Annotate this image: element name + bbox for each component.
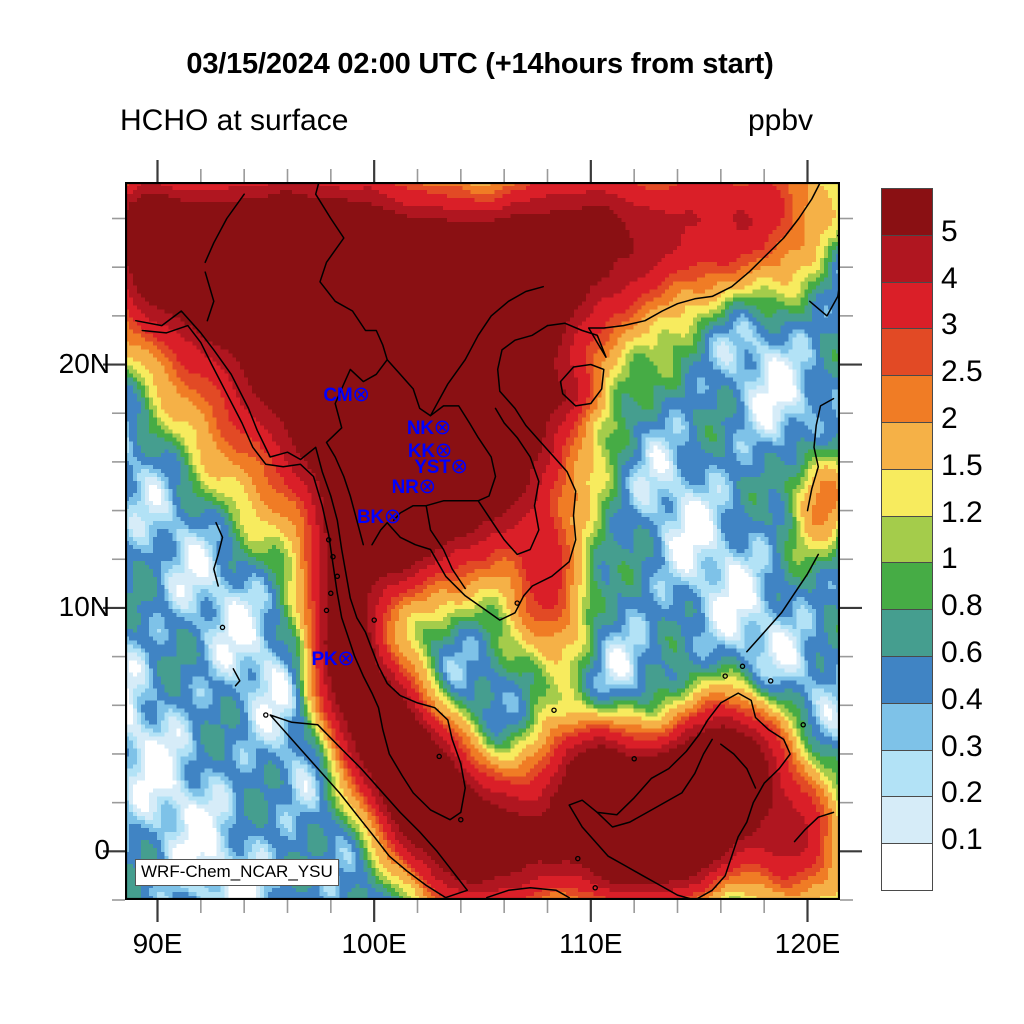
- colorbar-tick-label-12: 0.2: [941, 776, 983, 810]
- colorbar-tick-label-1: 4: [941, 262, 958, 296]
- colorbar[interactable]: [881, 188, 933, 890]
- x-tick-label-100E: 100E: [294, 928, 454, 960]
- colorbar-band-12: [881, 750, 933, 798]
- colorbar-band-14: [881, 843, 933, 891]
- colorbar-tick-label-8: 0.8: [941, 589, 983, 623]
- colorbar-band-11: [881, 703, 933, 751]
- station-marker-nk: NK⊗: [407, 417, 451, 438]
- station-point-icon: ⊗: [384, 505, 401, 528]
- model-watermark: WRF-Chem_NCAR_YSU: [135, 859, 339, 886]
- colorbar-band-2: [881, 282, 933, 330]
- station-point-icon: ⊗: [450, 455, 467, 478]
- colorbar-tick-label-4: 2: [941, 402, 958, 436]
- colorbar-tick-label-13: 0.1: [941, 823, 983, 857]
- station-label: BK: [357, 507, 384, 528]
- station-point-icon: ⊗: [337, 647, 354, 670]
- colorbar-band-4: [881, 375, 933, 423]
- station-marker-nr: NR⊗: [392, 476, 436, 497]
- map-plot-area[interactable]: WRF-Chem_NCAR_YSU: [125, 182, 840, 900]
- station-marker-pk: PK⊗: [312, 648, 355, 669]
- colorbar-tick-label-11: 0.3: [941, 730, 983, 764]
- colorbar-tick-label-6: 1.2: [941, 496, 983, 530]
- colorbar-tick-label-3: 2.5: [941, 355, 983, 389]
- colorbar-band-6: [881, 469, 933, 517]
- colorbar-tick-label-9: 0.6: [941, 636, 983, 670]
- colorbar-tick-label-7: 1: [941, 542, 958, 576]
- station-point-icon: ⊗: [419, 475, 436, 498]
- colorbar-band-10: [881, 656, 933, 704]
- units-label: ppbv: [748, 104, 813, 138]
- y-tick-label-10N: 10N: [0, 591, 110, 623]
- contour-map: [125, 182, 840, 900]
- station-marker-yst: YST⊗: [414, 456, 467, 477]
- y-tick-label-20N: 20N: [0, 348, 110, 380]
- colorbar-band-5: [881, 422, 933, 470]
- station-label: NK: [407, 418, 434, 439]
- colorbar-tick-label-2: 3: [941, 308, 958, 342]
- y-tick-label-0: 0: [0, 834, 110, 866]
- station-point-icon: ⊗: [352, 383, 369, 406]
- variable-label: HCHO at surface: [120, 104, 348, 138]
- colorbar-band-3: [881, 328, 933, 376]
- page-title: 03/15/2024 02:00 UTC (+14hours from star…: [0, 48, 960, 81]
- x-tick-label-90E: 90E: [78, 928, 238, 960]
- x-tick-label-120E: 120E: [728, 928, 888, 960]
- station-marker-bk: BK⊗: [357, 506, 401, 527]
- station-label: CM: [323, 385, 352, 406]
- colorbar-tick-label-0: 5: [941, 215, 958, 249]
- station-label: NR: [392, 477, 419, 498]
- colorbar-band-7: [881, 516, 933, 564]
- station-label: PK: [312, 649, 338, 670]
- station-marker-cm: CM⊗: [323, 384, 369, 405]
- colorbar-band-0: [881, 188, 933, 236]
- station-point-icon: ⊗: [434, 416, 451, 439]
- colorbar-tick-label-10: 0.4: [941, 683, 983, 717]
- colorbar-tick-label-5: 1.5: [941, 449, 983, 483]
- colorbar-band-9: [881, 609, 933, 657]
- colorbar-band-8: [881, 562, 933, 610]
- colorbar-band-1: [881, 235, 933, 283]
- x-tick-label-110E: 110E: [511, 928, 671, 960]
- colorbar-band-13: [881, 796, 933, 844]
